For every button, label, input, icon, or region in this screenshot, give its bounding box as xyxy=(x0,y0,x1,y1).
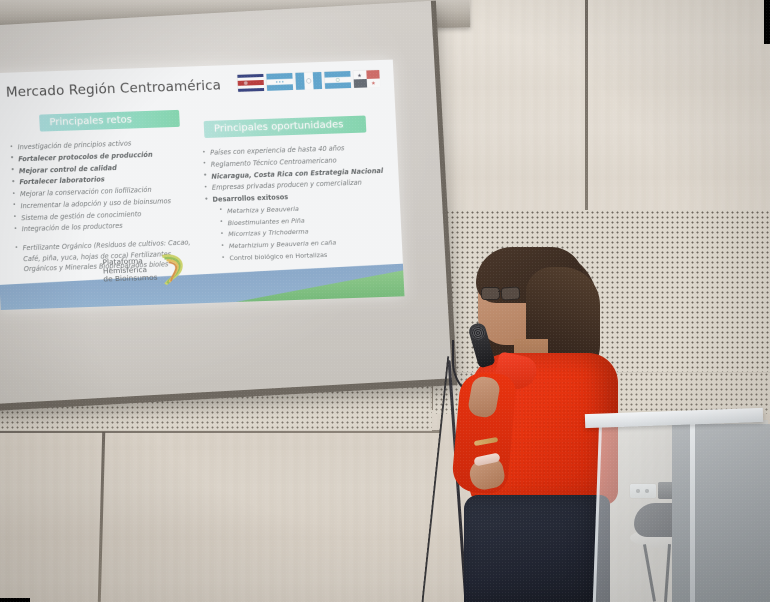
lectern-glass-edge xyxy=(690,420,695,602)
el-salvador-flag xyxy=(324,71,351,89)
image-border-artifact xyxy=(0,598,30,602)
costa-rica-flag xyxy=(237,74,264,92)
honduras-flag xyxy=(266,73,293,91)
slide-column-right: Países con experiencia de hasta 40 años … xyxy=(201,142,397,266)
svg-text:★: ★ xyxy=(357,73,362,79)
slide-heading-oportunidades: Principales oportunidades xyxy=(204,116,367,138)
guatemala-flag xyxy=(295,72,322,90)
lectern-front-face xyxy=(672,424,770,602)
logo-line-3: de Bioinsumos xyxy=(103,274,157,284)
logo-swirl-icon xyxy=(158,252,186,287)
slide-title: Mercado Región Centroamérica xyxy=(6,77,222,100)
slide-heading-retos: Principales retos xyxy=(39,110,180,132)
oportunidades-bullet-list: Países con experiencia de hasta 40 años … xyxy=(201,142,394,206)
flag-row: ★ ★ xyxy=(237,70,380,92)
plataforma-logo: Plataforma Hemisférica de Bioinsumos xyxy=(102,252,186,289)
panama-flag: ★ ★ xyxy=(353,70,380,88)
image-border-artifact xyxy=(764,0,770,44)
projected-slide: Mercado Región Centroamérica xyxy=(0,60,405,310)
projection-screen: Mercado Región Centroamérica xyxy=(0,1,457,413)
conference-room-photo: Mercado Región Centroamérica xyxy=(0,0,770,602)
desarrollos-sub-list: Metarhiza y Beauveria Bioestimulantes en… xyxy=(218,200,397,264)
eyeglasses-icon xyxy=(481,287,525,299)
retos-bullet-list: Investigación de principios activos Fort… xyxy=(8,136,197,235)
svg-text:★: ★ xyxy=(371,81,376,87)
